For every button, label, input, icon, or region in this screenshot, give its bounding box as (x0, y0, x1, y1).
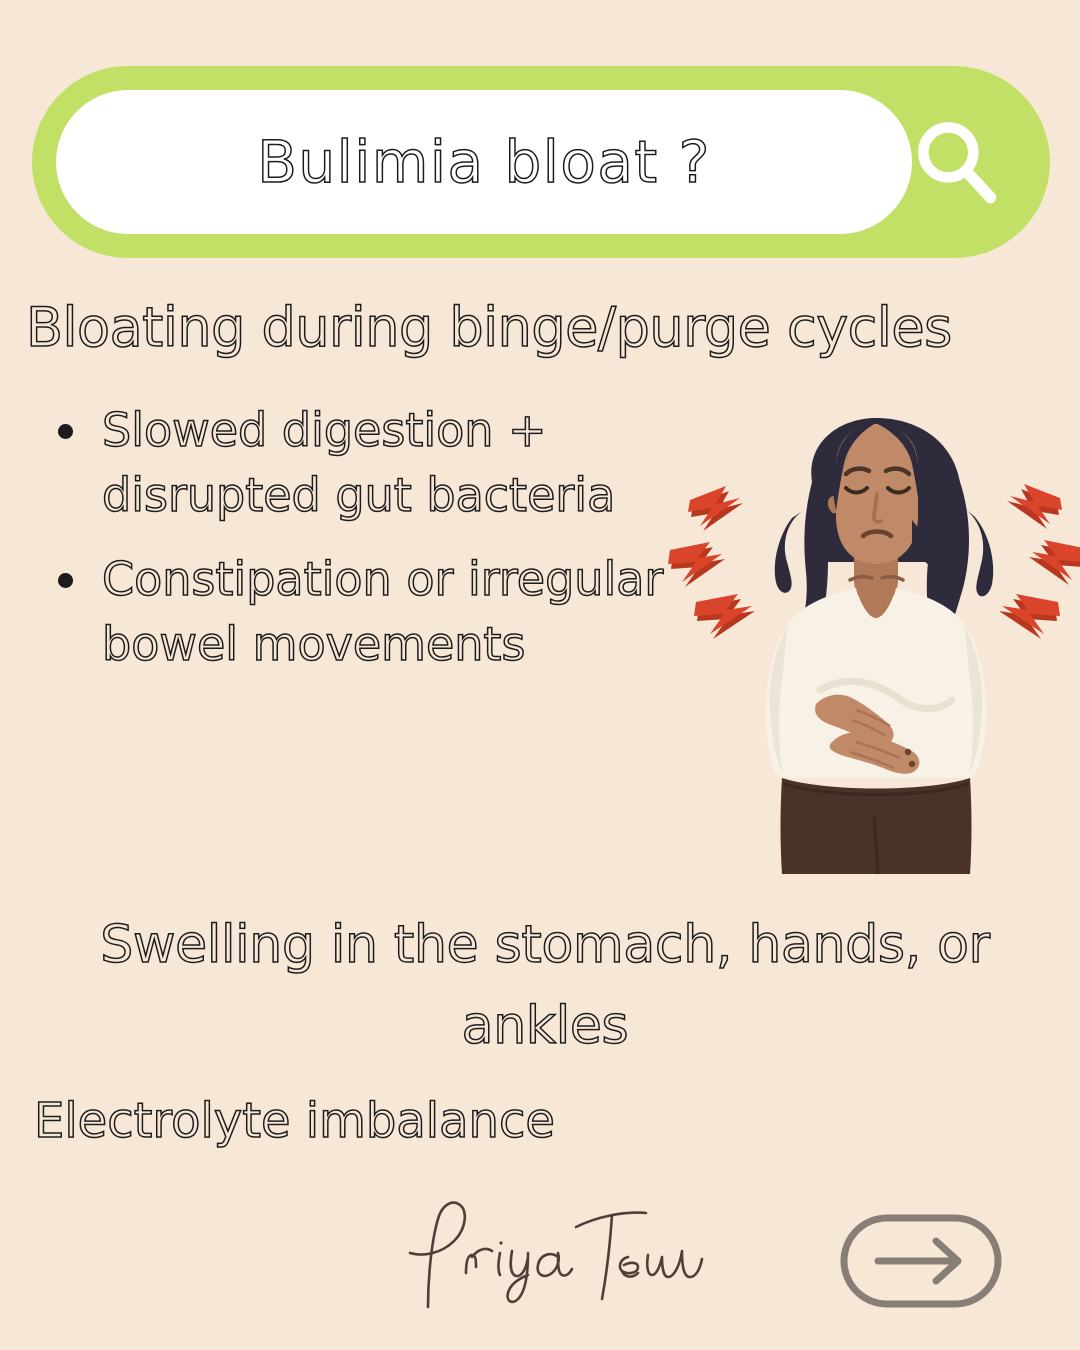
search-input[interactable]: Bulimia bloat ? (56, 90, 912, 234)
lightning-bolt-icon (1007, 484, 1062, 529)
list-item: Slowed digestion + disrupted gut bacteri… (44, 398, 684, 529)
bullet-dot-icon (58, 573, 73, 588)
lightning-bolt-icon (688, 486, 743, 531)
lightning-bolt-icon (694, 594, 755, 639)
page-title: Bloating during binge/purge cycles (26, 300, 1066, 357)
list-item: Constipation or irregular bowel movement… (44, 547, 684, 678)
signature-priya-tew: Priya Tew (380, 1195, 720, 1315)
swelling-text: Swelling in the stomach, hands, or ankle… (30, 905, 1060, 1066)
search-query-text: Bulimia bloat ? (257, 128, 711, 196)
search-icon[interactable] (908, 114, 1004, 210)
bullet-dot-icon (58, 424, 73, 439)
symptom-list: Slowed digestion + disrupted gut bacteri… (44, 398, 684, 695)
search-bar[interactable]: Bulimia bloat ? (32, 66, 1050, 258)
lightning-bolt-icon (999, 594, 1060, 639)
lightning-bolt-icon (668, 542, 725, 587)
pants (781, 778, 972, 874)
list-item-label: Slowed digestion + disrupted gut bacteri… (102, 403, 615, 522)
woman-with-stomach-pain-illustration (660, 412, 1080, 882)
next-button[interactable]: Next (838, 1212, 1004, 1310)
pain-bolt-left-group (668, 486, 755, 639)
lightning-bolt-icon (1029, 540, 1080, 585)
pain-bolt-right-group (999, 484, 1080, 639)
list-item-label: Constipation or irregular bowel movement… (102, 552, 663, 671)
electrolyte-text: Electrolyte imbalance (34, 1095, 555, 1148)
arrow-right-icon (878, 1241, 958, 1281)
infographic-canvas: Bulimia bloat ? Bloating during binge/pu… (0, 0, 1080, 1350)
